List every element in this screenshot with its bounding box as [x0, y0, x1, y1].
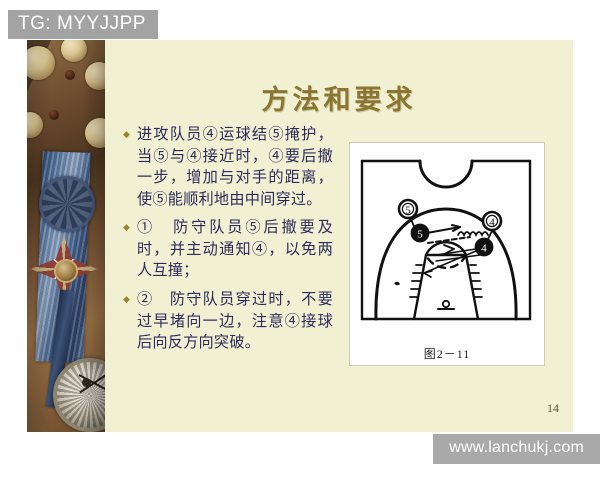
decorative-photo-strip: [27, 40, 105, 432]
list-item: ◆ ① 防守队员⑤后撤要及时，并主动通知④，以免两人互撞；: [123, 217, 333, 282]
player-marker-open-4: 4: [483, 212, 501, 230]
svg-text:4: 4: [481, 243, 487, 255]
player-marker-open-5: 5: [399, 200, 417, 218]
player-marker-filled-4: 4: [476, 239, 493, 256]
diamond-bullet-icon: ◆: [123, 295, 137, 304]
diamond-bullet-icon: ◆: [123, 130, 137, 139]
center-circle-arc: [420, 161, 472, 187]
list-item-text: ② 防守队员穿过时，不要过早堵向一边，注意④接球后向反方向突破。: [137, 289, 333, 354]
diamond-bullet-icon: ◆: [123, 223, 137, 232]
figure-caption: 图2－11: [350, 345, 544, 362]
list-item: ◆ ② 防守队员穿过时，不要过早堵向一边，注意④接球后向反方向突破。: [123, 289, 333, 354]
rim-icon: [443, 301, 449, 307]
screenshot-page: 方法和要求 ◆ 进攻队员④运球结⑤掩护，当⑤与④接近时，④要后撤一步，增加与对手…: [0, 0, 600, 480]
floor-mark: [394, 282, 400, 286]
bullet-list: ◆ 进攻队员④运球结⑤掩护，当⑤与④接近时，④要后撤一步，增加与对手的距离，使⑤…: [123, 124, 333, 361]
watermark-top-left: TG: MYYJJPP: [8, 10, 158, 39]
list-item-text: 进攻队员④运球结⑤掩护，当⑤与④接近时，④要后撤一步，增加与对手的距离，使⑤能顺…: [137, 124, 333, 210]
court-diagram-svg: 5 4 5 4: [358, 151, 534, 331]
dribble-squiggle: [458, 232, 488, 235]
strip-shading: [27, 40, 105, 432]
list-item: ◆ 进攻队员④运球结⑤掩护，当⑤与④接近时，④要后撤一步，增加与对手的距离，使⑤…: [123, 124, 333, 210]
slide-page-number: 14: [547, 401, 559, 416]
list-item-text: ① 防守队员⑤后撤要及时，并主动通知④，以免两人互撞；: [137, 217, 333, 282]
figure-basketball-diagram: 5 4 5 4 图2－11: [349, 142, 545, 366]
svg-text:5: 5: [417, 229, 423, 241]
page-title: 方法和要求: [105, 78, 573, 117]
movement-arrow-head-2: [424, 271, 432, 277]
presentation-slide: 方法和要求 ◆ 进攻队员④运球结⑤掩护，当⑤与④接近时，④要后撤一步，增加与对手…: [27, 40, 573, 432]
watermark-bottom-right: www.lanchukj.com: [433, 434, 600, 464]
player-marker-filled-5: 5: [412, 225, 429, 242]
